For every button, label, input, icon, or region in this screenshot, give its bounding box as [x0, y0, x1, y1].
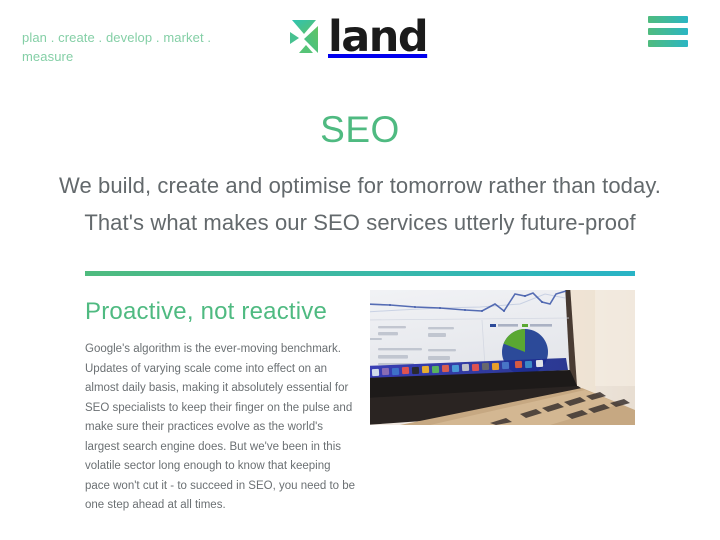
section-heading: Proactive, not reactive [85, 290, 357, 334]
page-title: SEO [20, 108, 700, 152]
menu-bar-1 [648, 16, 688, 23]
menu-bar-2 [648, 28, 688, 35]
hero-subtitle-line-2: That's what makes our SEO services utter… [20, 204, 700, 241]
section-body-text: Google's algorithm is the ever-moving be… [85, 340, 357, 516]
section-divider-rule [85, 271, 635, 276]
logo-wordmark: land [328, 15, 427, 59]
site-tagline: plan . create . develop . market . measu… [22, 28, 237, 66]
laptop-analytics-photo [370, 290, 635, 425]
hamburger-menu-icon[interactable] [648, 16, 688, 47]
hero-section: SEO We build, create and optimise for to… [0, 108, 720, 241]
menu-bar-3 [648, 40, 688, 47]
content-image-column [370, 290, 635, 425]
content-text-column: Proactive, not reactive Google's algorit… [85, 290, 357, 516]
site-header: plan . create . develop . market . measu… [0, 0, 720, 75]
hero-subtitle: We build, create and optimise for tomorr… [20, 167, 700, 241]
hero-subtitle-line-1: We build, create and optimise for tomorr… [20, 167, 700, 204]
xland-x-mark-icon [286, 15, 330, 59]
content-columns: Proactive, not reactive Google's algorit… [85, 290, 635, 516]
site-logo[interactable]: land [286, 13, 427, 61]
content-section: Proactive, not reactive Google's algorit… [85, 271, 635, 516]
